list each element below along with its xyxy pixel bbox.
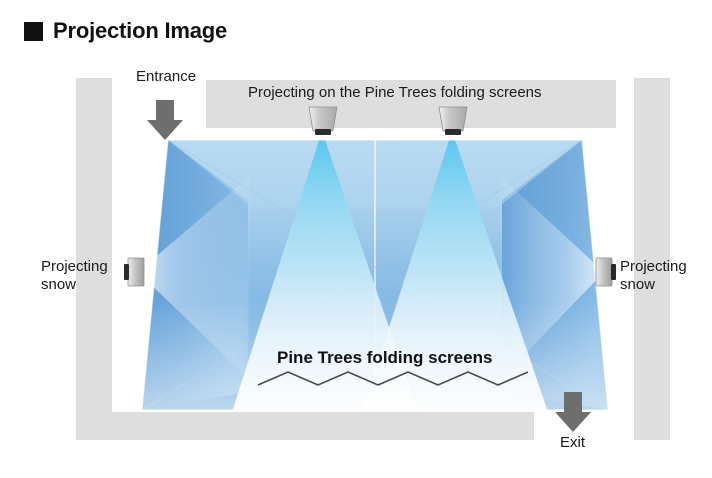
entrance-arrow-icon xyxy=(147,100,183,140)
ceiling-projector-right[interactable] xyxy=(439,107,467,135)
snow-left-line-1: Projecting xyxy=(41,258,108,275)
ceiling-projector-left[interactable] xyxy=(309,107,337,135)
folding-screens-label: Pine Trees folding screens xyxy=(277,348,492,368)
projector-lens xyxy=(315,129,331,135)
wall-bottom xyxy=(76,412,534,440)
projector-body xyxy=(596,258,612,286)
wall-projector-right[interactable] xyxy=(596,258,616,286)
projecting-snow-left-label: Projecting snow xyxy=(41,258,108,293)
snow-right-line-2: snow xyxy=(620,276,687,294)
projector-lens xyxy=(445,129,461,135)
projecting-snow-right-label: Projecting snow xyxy=(620,258,687,293)
diagram-canvas xyxy=(0,0,712,478)
room-interior xyxy=(138,131,612,412)
exit-label: Exit xyxy=(560,434,585,452)
projector-body xyxy=(439,107,467,131)
projector-lens xyxy=(611,264,616,280)
snow-left-line-2: snow xyxy=(41,276,108,294)
projection-diagram: Entrance Exit Projecting on the Pine Tre… xyxy=(0,0,712,478)
projector-body xyxy=(309,107,337,131)
ceiling-projection-caption: Projecting on the Pine Trees folding scr… xyxy=(248,84,542,102)
wall-projector-left[interactable] xyxy=(124,258,144,286)
projector-lens xyxy=(124,264,129,280)
entrance-label: Entrance xyxy=(136,68,196,86)
projector-body xyxy=(128,258,144,286)
snow-right-line-1: Projecting xyxy=(620,258,687,275)
